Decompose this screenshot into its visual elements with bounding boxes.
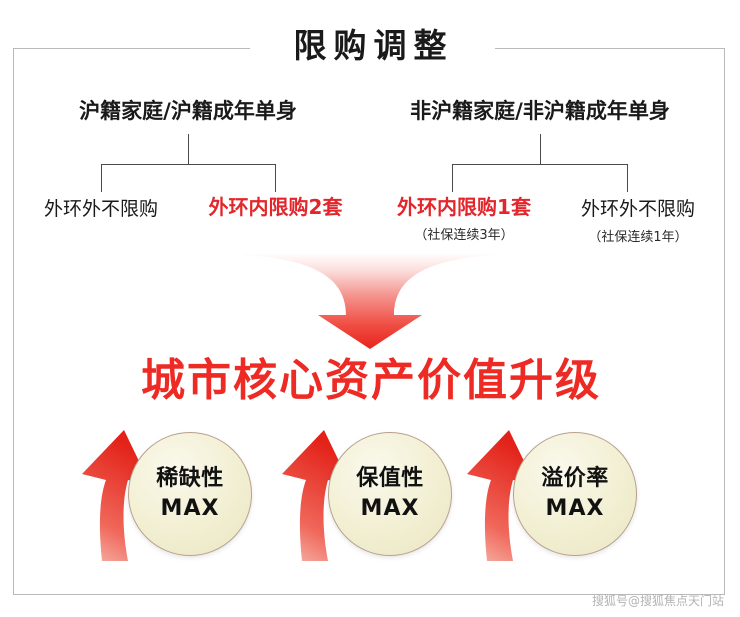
page-title: 限购调整: [0, 23, 740, 69]
watermark: 搜狐号@搜狐焦点天门站: [592, 592, 724, 609]
infographic-canvas: 限购调整 沪籍家庭/沪籍成年单身 非沪籍家庭/非沪籍成年单身 外环外不限购 外环…: [0, 0, 740, 617]
tree-drop-right-2: [627, 164, 628, 192]
badge-row: 稀缺性 MAX 保值性: [0, 420, 740, 565]
leaf-outer-ring-unrestricted-left: 外环外不限购: [18, 197, 184, 222]
leaf-sublabel: （社保连续3年）: [378, 223, 550, 248]
tree-drop-left-1: [101, 164, 102, 192]
leaf-label: 外环外不限购: [552, 197, 724, 222]
badge-label-cn: 稀缺性: [156, 465, 224, 493]
leaf-label: 外环内限购2套: [188, 195, 363, 220]
tree-bar-right: [452, 164, 628, 165]
tree-stem-left: [188, 134, 189, 164]
badge-label-cn: 溢价率: [541, 465, 609, 493]
category-header-non-hu: 非沪籍家庭/非沪籍成年单身: [392, 98, 688, 124]
tree-bar-left: [101, 164, 276, 165]
badge-label-en: MAX: [361, 495, 420, 523]
headline-text: 城市核心资产价值升级: [0, 352, 740, 410]
badge-label-en: MAX: [546, 495, 605, 523]
badge-label-cn: 保值性: [356, 465, 424, 493]
leaf-inner-ring-limit-1: 外环内限购1套 （社保连续3年）: [378, 195, 550, 248]
leaf-sublabel: （社保连续1年）: [552, 225, 724, 250]
tree-stem-right: [540, 134, 541, 164]
tree-drop-right-1: [452, 164, 453, 192]
category-header-hu: 沪籍家庭/沪籍成年单身: [42, 98, 334, 124]
leaf-label: 外环内限购1套: [378, 195, 550, 220]
badge-label-group: 保值性 MAX: [328, 432, 452, 556]
badge-label-group: 溢价率 MAX: [513, 432, 637, 556]
badge-label-group: 稀缺性 MAX: [128, 432, 252, 556]
leaf-label: 外环外不限购: [18, 197, 184, 222]
down-funnel-arrow-icon: [242, 253, 498, 351]
badge-label-en: MAX: [161, 495, 220, 523]
badge-premium-rate: 溢价率 MAX: [455, 420, 655, 565]
leaf-outer-ring-unrestricted-right: 外环外不限购 （社保连续1年）: [552, 197, 724, 250]
badge-value-retention: 保值性 MAX: [270, 420, 470, 565]
tree-drop-left-2: [275, 164, 276, 192]
leaf-inner-ring-limit-2: 外环内限购2套: [188, 195, 363, 220]
badge-scarcity: 稀缺性 MAX: [70, 420, 270, 565]
